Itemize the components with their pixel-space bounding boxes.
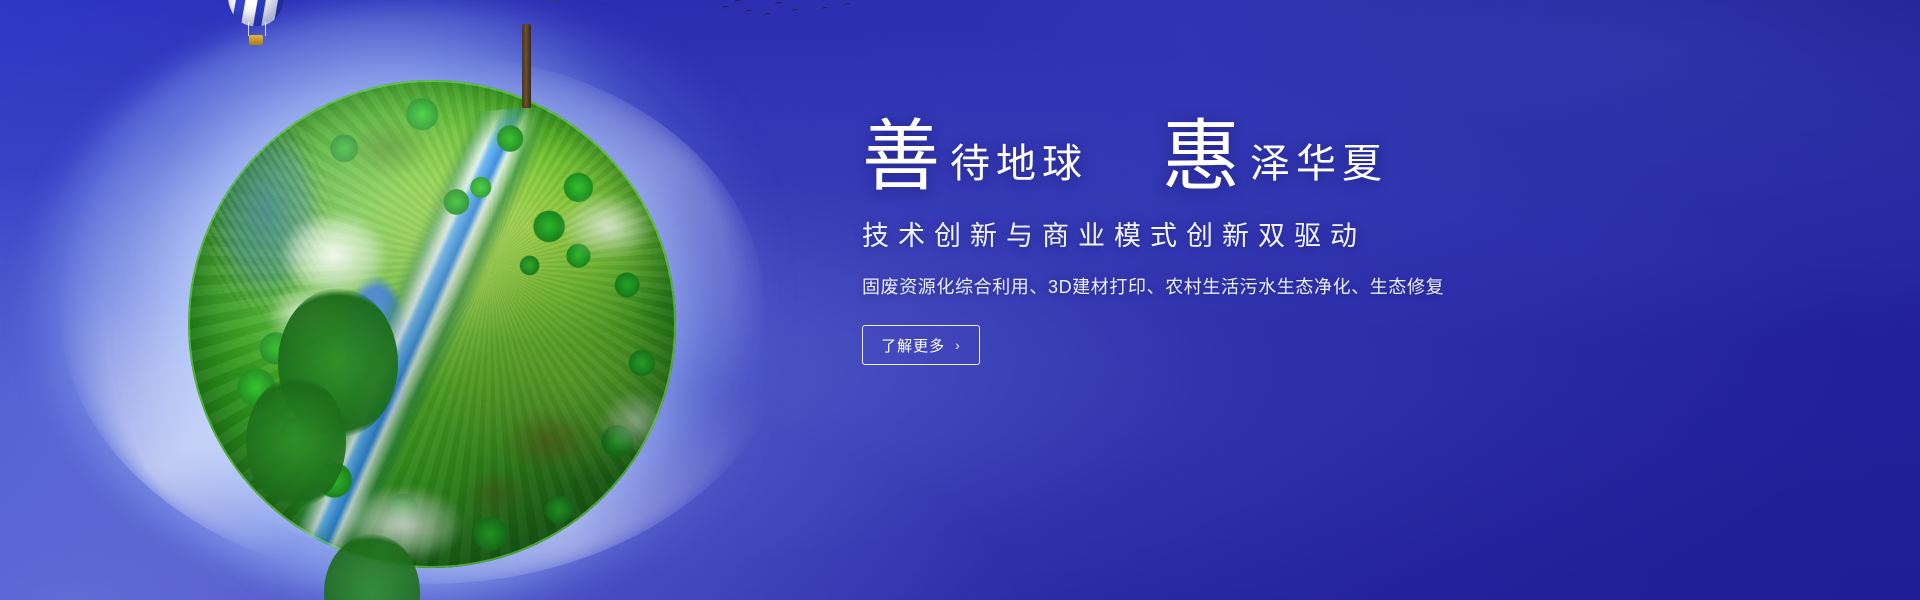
hero-description: 固废资源化综合利用、3D建材打印、农村生活污水生态净化、生态修复 [862, 273, 1762, 299]
learn-more-button[interactable]: 了解更多 › [862, 325, 980, 365]
sphere-rim-light [188, 80, 676, 568]
headline-text-small-2: 泽华夏 [1250, 144, 1388, 184]
headline-char-big-2: 惠 [1162, 118, 1240, 196]
globe-illustration [128, 0, 728, 600]
planet-sphere [188, 80, 676, 568]
balloon-ropes [248, 22, 266, 36]
hot-air-balloon-icon [228, 0, 284, 54]
hero-text-panel: 善 待地球 惠 泽华夏 技术创新与商业模式创新双驱动 固废资源化综合利用、3D建… [862, 118, 1762, 365]
headline-char-big-1: 善 [862, 118, 940, 196]
headline-phrase-one: 善 待地球 [862, 118, 1088, 196]
headline-text-small-1: 待地球 [950, 144, 1088, 184]
headline-phrase-two: 惠 泽华夏 [1162, 118, 1388, 196]
chevron-right-icon: › [955, 337, 961, 353]
tree-trunk [522, 24, 531, 108]
hero-banner: 善 待地球 惠 泽华夏 技术创新与商业模式创新双驱动 固废资源化综合利用、3D建… [0, 0, 1920, 600]
top-tree-icon [460, 0, 600, 108]
hero-headline: 善 待地球 惠 泽华夏 [862, 118, 1762, 196]
balloon-basket [249, 35, 263, 45]
tree-crown [460, 0, 600, 12]
learn-more-label: 了解更多 [881, 335, 945, 356]
hero-subtitle: 技术创新与商业模式创新双驱动 [862, 214, 1762, 253]
bird-flock-icon [720, 0, 880, 34]
